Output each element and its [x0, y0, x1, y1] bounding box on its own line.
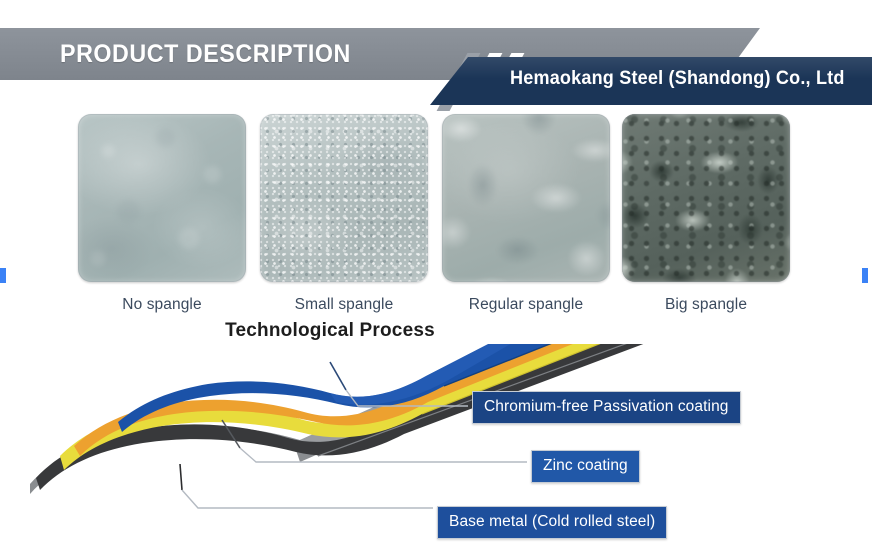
tick-passivation — [330, 362, 346, 390]
swatch-label: Small spangle — [260, 296, 428, 314]
swatch-label: No spangle — [78, 296, 246, 314]
swatch-image-big-spangle — [622, 114, 790, 282]
page-title: PRODUCT DESCRIPTION — [60, 38, 351, 70]
tick-base-metal — [180, 464, 182, 490]
swatch-item-no-spangle: No spangle — [78, 114, 250, 314]
header: PRODUCT DESCRIPTION Hemaokang Steel (Sha… — [0, 0, 872, 118]
company-name: Hemaokang Steel (Shandong) Co., Ltd — [510, 68, 845, 90]
swatch-item-small-spangle: Small spangle — [260, 114, 432, 314]
tech-title-text: Technological Process — [225, 320, 435, 341]
callout-passivation-coating: Chromium-free Passivation coating — [472, 391, 741, 424]
swatch-image-no-spangle — [78, 114, 246, 282]
swatch-item-regular-spangle: Regular spangle — [442, 114, 614, 314]
callout-base-metal: Base metal (Cold rolled steel) — [437, 506, 667, 539]
product-description-slide: PRODUCT DESCRIPTION Hemaokang Steel (Sha… — [0, 0, 872, 551]
swatch-label: Regular spangle — [442, 296, 610, 314]
technological-process-title: Technological Process — [0, 320, 872, 342]
swatch-image-regular-spangle — [442, 114, 610, 282]
leader-line-base-metal — [182, 490, 433, 508]
swatch-item-big-spangle: Big spangle — [622, 114, 794, 314]
swatch-image-small-spangle — [260, 114, 428, 282]
spangle-swatch-row: No spangle Small spangle Regular spangle… — [0, 114, 872, 314]
swatch-label: Big spangle — [622, 296, 790, 314]
callout-zinc-coating: Zinc coating — [531, 450, 640, 483]
coating-layers-diagram — [0, 344, 872, 551]
layer-stack-illustration — [0, 344, 872, 551]
